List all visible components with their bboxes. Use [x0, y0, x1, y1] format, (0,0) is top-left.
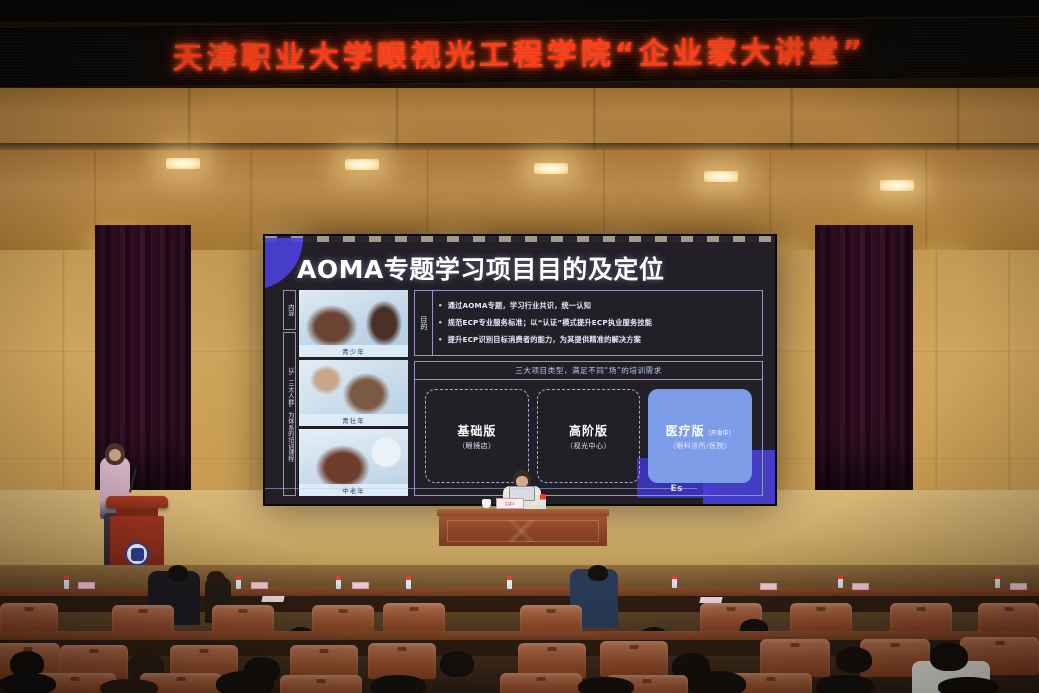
- type-card-sub: （眼镜店）: [458, 441, 496, 451]
- photo-caption: 中老年: [299, 484, 408, 496]
- audience-area: [0, 565, 1039, 693]
- photo-caption: 青壮年: [299, 414, 408, 426]
- type-card-dev-tag: （开发中）: [705, 430, 735, 437]
- slide-body: 内容 以“三大人群”为体系的培训课程 青少年 青壮年 中老年: [283, 290, 763, 496]
- auditorium-seat: [280, 675, 362, 693]
- purpose-bullet: • 规范ECP专业服务标准；以“认证”模式提升ECP执业服务技能: [438, 319, 757, 327]
- university-emblem-icon: [125, 542, 149, 566]
- water-bottle-icon: [507, 576, 512, 589]
- ceiling-light: [166, 158, 200, 169]
- person-head: [100, 679, 158, 693]
- type-card-name-row: 医疗版（开发中）: [666, 422, 735, 439]
- person-head: [0, 673, 56, 693]
- slide-watermark-line: [265, 488, 697, 489]
- microphone-icon: [129, 467, 137, 493]
- person-head: [370, 675, 426, 693]
- photo-caption: 青少年: [299, 345, 408, 357]
- podium-speaker-head: [105, 443, 125, 465]
- person-head: [216, 671, 274, 693]
- podium-top: [106, 496, 168, 508]
- slide-photo-stack: 青少年 青壮年 中老年: [299, 290, 408, 496]
- slide-title: AOMA专题学习项目目的及定位: [297, 250, 664, 286]
- auditorium-seat: [790, 603, 852, 633]
- vertical-label-main: 以“三大人群”为体系的培训课程: [283, 332, 296, 496]
- water-bottle-icon: [336, 576, 341, 589]
- person-head: [207, 571, 225, 585]
- types-heading: 三大项目类型，满足不同“场”的培训需求: [415, 362, 762, 380]
- person-head: [440, 651, 474, 677]
- person-head: [816, 675, 874, 693]
- photo-card-youth: 青少年: [299, 290, 408, 357]
- purpose-label: 目的: [415, 291, 433, 355]
- type-card-advanced: 高阶版 （视光中心）: [537, 389, 641, 483]
- presider-table-top: [437, 509, 609, 516]
- person-head: [930, 643, 968, 671]
- led-banner-text: 天津职业大学眼视光工程学院“企业家大讲堂”: [173, 27, 867, 78]
- type-card-name: 医疗版: [666, 424, 705, 438]
- ceiling-light: [345, 159, 379, 170]
- bullet-dot-icon: •: [438, 303, 443, 310]
- podium-neck: [116, 508, 158, 516]
- paper-sheet: [261, 596, 284, 602]
- person-head: [588, 565, 608, 581]
- name-card: [352, 582, 369, 589]
- upper-wall-panel: [0, 88, 1039, 150]
- emblem-inner: [131, 548, 144, 561]
- photo-card-senior: 中老年: [299, 429, 408, 496]
- led-banner: 天津职业大学眼视光工程学院“企业家大讲堂”: [0, 16, 1039, 88]
- water-bottle-icon: [995, 575, 1000, 588]
- type-card-sub: （视光中心）: [566, 441, 611, 451]
- purpose-bullet: • 通过AOMA专题，学习行业共识，统一认知: [438, 302, 757, 310]
- auditorium-scene: 天津职业大学眼视光工程学院“企业家大讲堂” AOMA专题学习项目目的及定位: [0, 0, 1039, 693]
- vertical-label-top: 内容: [283, 290, 296, 330]
- stage-curtain-right: [815, 225, 913, 493]
- purpose-bullet-text: 通过AOMA专题，学习行业共识，统一认知: [448, 302, 591, 310]
- cup-icon: [482, 499, 491, 508]
- bullet-dot-icon: •: [438, 320, 443, 327]
- auditorium-seat: [978, 603, 1039, 633]
- auditorium-seat: [760, 639, 830, 677]
- name-card: [1010, 583, 1027, 590]
- bullet-dot-icon: •: [438, 337, 443, 344]
- type-card-medical: 医疗版（开发中） （眼科诊所/医院）: [648, 389, 752, 483]
- ceiling-light: [534, 163, 568, 174]
- water-bottle-icon: [406, 576, 411, 589]
- water-bottle-icon: [540, 494, 546, 510]
- presider-table-front: [439, 516, 607, 546]
- person-head: [938, 677, 998, 693]
- water-bottle-icon: [838, 575, 843, 588]
- slide-watermark: Es: [670, 484, 683, 494]
- name-card: 主讲人: [496, 498, 524, 509]
- ceiling-light: [880, 180, 914, 191]
- auditorium-seat: [383, 603, 445, 633]
- auditorium-seat: [0, 603, 58, 633]
- slide-right-column: 目的 • 通过AOMA专题，学习行业共识，统一认知 • 规范ECP专业服务标准；…: [414, 290, 763, 496]
- water-bottle-icon: [64, 576, 69, 589]
- person-head: [578, 677, 634, 693]
- person-head: [688, 671, 746, 693]
- slide-left-column: 内容 以“三大人群”为体系的培训课程 青少年 青壮年 中老年: [283, 290, 408, 496]
- type-card-sub: （眼科诊所/医院）: [669, 441, 732, 451]
- photo-card-adult: 青壮年: [299, 360, 408, 427]
- name-card-text: 主讲人: [505, 501, 515, 506]
- person-head: [168, 565, 188, 581]
- name-card: [760, 583, 777, 590]
- slide-vertical-label: 内容 以“三大人群”为体系的培训课程: [283, 290, 296, 496]
- presider-group: 主讲人: [437, 470, 609, 532]
- auditorium-seat: [890, 603, 952, 633]
- person-head: [836, 647, 872, 673]
- slide-purpose-box: 目的 • 通过AOMA专题，学习行业共识，统一认知 • 规范ECP专业服务标准；…: [414, 290, 763, 356]
- ceiling-light: [704, 171, 738, 182]
- name-card: [852, 583, 869, 590]
- auditorium-seat: [600, 641, 668, 677]
- purpose-bullet: • 提升ECP识别目标消费者的能力，为其提供精准的解决方案: [438, 336, 757, 344]
- water-bottle-icon: [672, 575, 677, 588]
- type-card-basic: 基础版 （眼镜店）: [425, 389, 529, 483]
- auditorium-seat: [500, 673, 582, 693]
- purpose-bullet-text: 规范ECP专业服务标准；以“认证”模式提升ECP执业服务技能: [448, 319, 652, 327]
- name-card: [78, 582, 95, 589]
- purpose-bullet-list: • 通过AOMA专题，学习行业共识，统一认知 • 规范ECP专业服务标准；以“认…: [433, 291, 762, 355]
- type-card-name: 基础版: [457, 422, 496, 439]
- name-card: [251, 582, 268, 589]
- type-card-name: 高阶版: [569, 422, 608, 439]
- auditorium-seat: [368, 643, 436, 679]
- screen-top-mount: [265, 236, 775, 242]
- projection-screen: AOMA专题学习项目目的及定位 内容 以“三大人群”为体系的培训课程 青少年 青…: [265, 236, 775, 504]
- water-bottle-icon: [236, 576, 241, 589]
- purpose-bullet-text: 提升ECP识别目标消费者的能力，为其提供精准的解决方案: [448, 336, 641, 344]
